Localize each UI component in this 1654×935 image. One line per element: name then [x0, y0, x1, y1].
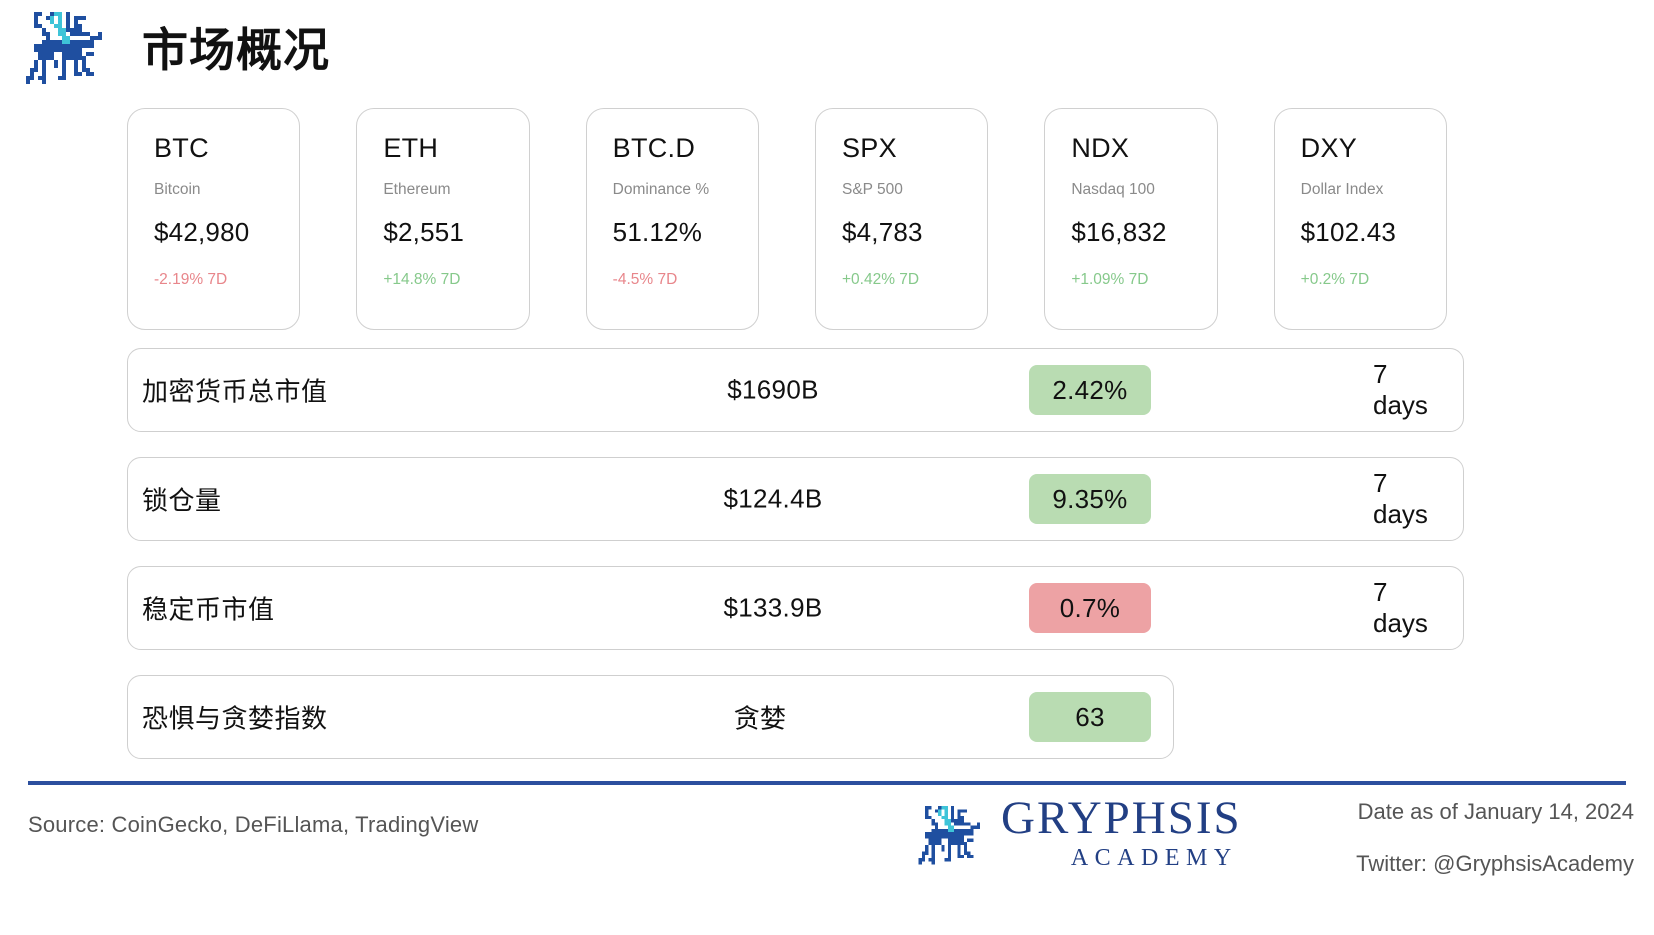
card-symbol: BTC.D	[613, 135, 758, 162]
card-change: -2.19% 7D	[154, 272, 299, 288]
metric-row[interactable]: 恐惧与贪婪指数贪婪63	[127, 675, 1174, 759]
row-value: $124.4B	[724, 484, 823, 515]
card-value: $2,551	[383, 219, 528, 245]
card-name: Ethereum	[383, 182, 528, 198]
card-value: $4,783	[842, 219, 987, 245]
footer-twitter-handle: Twitter: @GryphsisAcademy	[1356, 853, 1634, 875]
row-period: 7 days	[1373, 577, 1433, 639]
metric-card[interactable]: BTC.DDominance %51.12%-4.5% 7D	[586, 108, 759, 330]
market-overview-page: 市场概况 BTCBitcoin$42,980-2.19% 7DETHEthere…	[0, 0, 1654, 935]
row-change-badge: 2.42%	[1029, 365, 1151, 415]
row-label: 锁仓量	[142, 481, 222, 518]
metric-cards-row: BTCBitcoin$42,980-2.19% 7DETHEthereum$2,…	[127, 108, 1447, 330]
card-change: +0.42% 7D	[842, 272, 987, 288]
row-label: 加密货币总市值	[142, 372, 328, 409]
metric-card[interactable]: NDXNasdaq 100$16,832+1.09% 7D	[1044, 108, 1217, 330]
row-period: 7 days	[1373, 468, 1433, 530]
card-value: $102.43	[1301, 219, 1446, 245]
metric-row[interactable]: 锁仓量$124.4B9.35%7 days	[127, 457, 1464, 541]
page-title: 市场概况	[142, 27, 330, 73]
card-value: $16,832	[1071, 219, 1216, 245]
brand-name: GRYPHSIS	[1001, 795, 1242, 843]
gryphon-pixel-logo-icon	[915, 803, 987, 871]
metric-row[interactable]: 加密货币总市值$1690B2.42%7 days	[127, 348, 1464, 432]
card-symbol: ETH	[383, 135, 528, 162]
card-value: 51.12%	[613, 219, 758, 245]
card-symbol: SPX	[842, 135, 987, 162]
row-value: $133.9B	[724, 593, 823, 624]
card-change: +14.8% 7D	[383, 272, 528, 288]
card-symbol: DXY	[1301, 135, 1446, 162]
metric-row[interactable]: 稳定币市值$133.9B0.7%7 days	[127, 566, 1464, 650]
row-value: $1690B	[727, 375, 818, 406]
metric-rows-list: 加密货币总市值$1690B2.42%7 days锁仓量$124.4B9.35%7…	[127, 348, 1464, 784]
card-name: S&P 500	[842, 182, 987, 198]
metric-card[interactable]: BTCBitcoin$42,980-2.19% 7D	[127, 108, 300, 330]
card-symbol: BTC	[154, 135, 299, 162]
card-name: Bitcoin	[154, 182, 299, 198]
row-change-badge: 63	[1029, 692, 1151, 742]
card-value: $42,980	[154, 219, 299, 245]
page-header: 市场概况	[0, 0, 1654, 100]
row-label: 恐惧与贪婪指数	[142, 699, 328, 736]
row-change-badge: 0.7%	[1029, 583, 1151, 633]
brand-subtitle: ACADEMY	[1071, 845, 1242, 872]
card-name: Nasdaq 100	[1071, 182, 1216, 198]
footer-date: Date as of January 14, 2024	[1356, 801, 1634, 823]
footer-meta: Date as of January 14, 2024 Twitter: @Gr…	[1356, 801, 1634, 875]
metric-card[interactable]: SPXS&P 500$4,783+0.42% 7D	[815, 108, 988, 330]
row-value: 贪婪	[734, 699, 787, 736]
card-change: -4.5% 7D	[613, 272, 758, 288]
footer-source-text: Source: CoinGecko, DeFiLlama, TradingVie…	[28, 812, 478, 838]
brand-lockup: GRYPHSIS ACADEMY	[915, 795, 1242, 872]
metric-card[interactable]: DXYDollar Index$102.43+0.2% 7D	[1274, 108, 1447, 330]
page-footer: Source: CoinGecko, DeFiLlama, TradingVie…	[0, 785, 1654, 935]
row-label: 稳定币市值	[142, 590, 275, 627]
row-period: 7 days	[1373, 359, 1433, 421]
card-change: +0.2% 7D	[1301, 272, 1446, 288]
row-change-badge: 9.35%	[1029, 474, 1151, 524]
card-change: +1.09% 7D	[1071, 272, 1216, 288]
card-symbol: NDX	[1071, 135, 1216, 162]
metric-card[interactable]: ETHEthereum$2,551+14.8% 7D	[356, 108, 529, 330]
gryphon-pixel-logo-icon	[22, 8, 110, 92]
card-name: Dominance %	[613, 182, 758, 198]
brand-wordmark: GRYPHSIS ACADEMY	[1001, 795, 1242, 872]
card-name: Dollar Index	[1301, 182, 1446, 198]
